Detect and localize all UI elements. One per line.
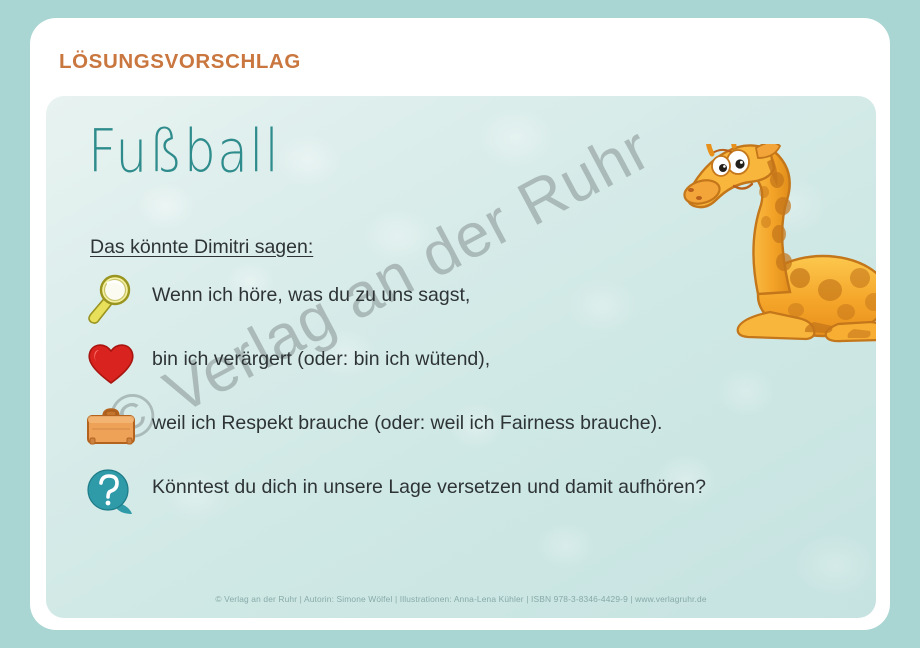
statement-text: bin ich verärgert (oder: bin ich wütend)… — [152, 338, 842, 373]
statement-text: Könntest du dich in unsere Lage versetze… — [152, 466, 842, 501]
list-item: Könntest du dich in unsere Lage versetze… — [82, 466, 842, 522]
worksheet-card: LÖSUNGSVORSCHLAG © Verlag an der Ruhr Fu… — [30, 18, 890, 630]
statement-text: Wenn ich höre, was du zu uns sagst, — [152, 274, 842, 309]
content-panel: © Verlag an der Ruhr Fußball Das könnte … — [46, 96, 876, 618]
statement-text: weil ich Respekt brauche (oder: weil ich… — [152, 402, 842, 437]
worksheet-page: LÖSUNGSVORSCHLAG © Verlag an der Ruhr Fu… — [0, 0, 920, 648]
section-eyebrow-heading: LÖSUNGSVORSCHLAG — [59, 50, 301, 74]
question-speech-bubble-icon — [82, 466, 140, 516]
briefcase-icon — [82, 402, 140, 452]
statement-list: Wenn ich höre, was du zu uns sagst, bin … — [82, 274, 842, 530]
magnifying-glass-icon — [82, 274, 140, 324]
list-item: Wenn ich höre, was du zu uns sagst, — [82, 274, 842, 330]
copyright-credit-line: © Verlag an der Ruhr | Autorin: Simone W… — [46, 594, 876, 604]
intro-prompt: Das könnte Dimitri sagen: — [90, 236, 313, 259]
heart-icon — [82, 338, 140, 388]
list-item: weil ich Respekt brauche (oder: weil ich… — [82, 402, 842, 458]
list-item: bin ich verärgert (oder: bin ich wütend)… — [82, 338, 842, 394]
page-title: Fußball — [88, 122, 280, 181]
